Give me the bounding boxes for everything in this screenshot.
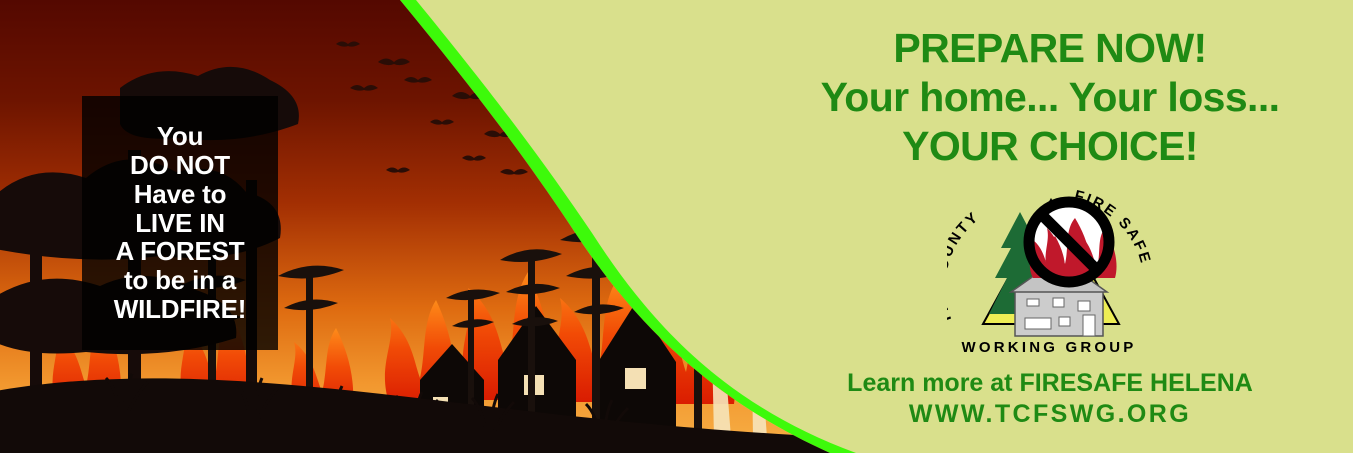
tri-county-fire-safe-working-group-logo: TRI COUNTY FIRE SAFE WORKING GROUP <box>947 186 1152 358</box>
caption-line-5: A FOREST <box>116 237 245 266</box>
caption-line-7: WILDFIRE! <box>114 295 247 324</box>
caption-line-3: Have to <box>134 180 227 209</box>
learn-more-text: Learn more at FIRESAFE HELENA <box>760 368 1340 399</box>
logo-text-left: TRI COUNTY <box>947 208 983 326</box>
caption-line-1: You <box>157 122 204 151</box>
logo-arc-text-left: TRI COUNTY <box>947 208 983 326</box>
caption-line-6: to be in a <box>124 266 236 295</box>
wildfire-awareness-banner: You DO NOT Have to LIVE IN A FOREST to b… <box>0 0 1353 453</box>
caption-line-4: LIVE IN <box>135 209 225 238</box>
caption-overlay-box: You DO NOT Have to LIVE IN A FOREST to b… <box>82 96 278 350</box>
headline-line-1: PREPARE NOW! <box>760 24 1340 73</box>
logo-graphic: TRI COUNTY FIRE SAFE WORKING GROUP <box>947 186 1152 358</box>
headline-line-3: YOUR CHOICE! <box>760 122 1340 171</box>
caption-line-2: DO NOT <box>130 151 230 180</box>
logo-text-bottom: WORKING GROUP <box>962 339 1137 356</box>
website-url-text[interactable]: WWW.TCFSWG.ORG <box>760 399 1340 430</box>
headline-line-2: Your home... Your loss... <box>760 73 1340 122</box>
headline-block: PREPARE NOW! Your home... Your loss... Y… <box>760 24 1340 170</box>
footer-text-block: Learn more at FIRESAFE HELENA WWW.TCFSWG… <box>760 368 1340 429</box>
